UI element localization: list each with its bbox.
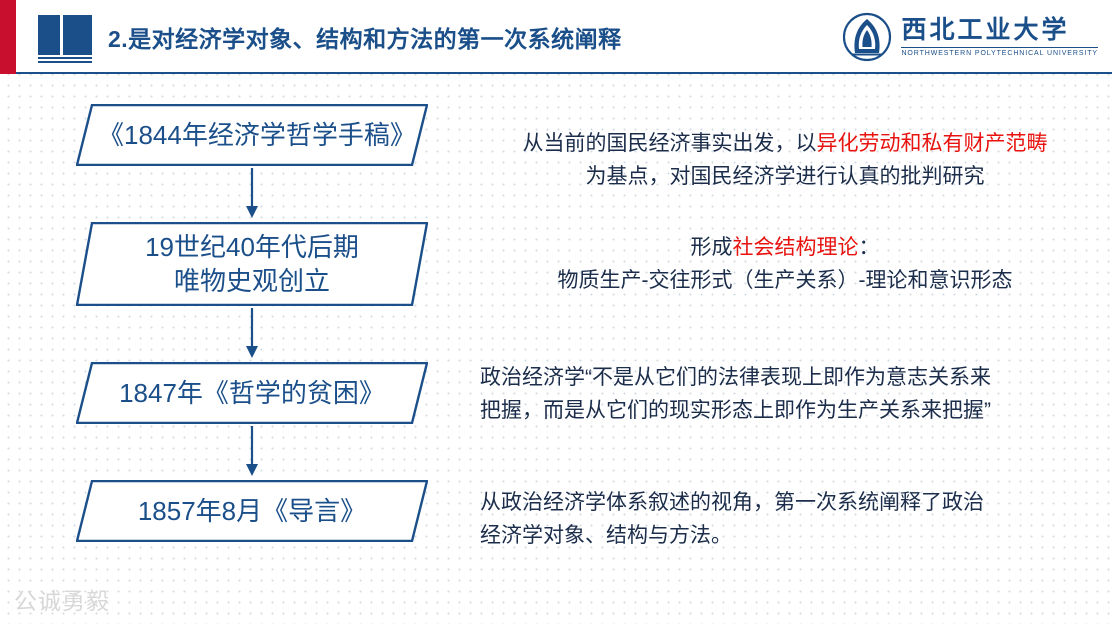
flow-node-2-label: 19世纪40年代后期 唯物史观创立 [145, 230, 359, 299]
note-block-3: 政治经济学“不是从它们的法律表现上即作为意志关系来 把握，而是从它们的现实形态上… [480, 362, 1090, 427]
flow-arrow-2 [76, 306, 428, 362]
note-3-seg-1: 政治经济学“不是从它们的法律表现上即作为意志关系来 [480, 366, 991, 389]
note-2-seg-1: 形成 [691, 236, 733, 259]
flow-diagram: 《1844年经济学哲学手稿》 19世纪40年代后期 唯物史观创立 [76, 104, 446, 542]
note-block-1: 从当前的国民经济事实出发，以异化劳动和私有财产范畴 为基点，对国民经济学进行认真… [480, 128, 1090, 193]
note-block-4: 从政治经济学体系叙述的视角，第一次系统阐释了政治 经济学对象、结构与方法。 [480, 487, 1090, 552]
flow-arrow-1 [76, 166, 428, 222]
note-block-2: 形成社会结构理论： 物质生产-交往形式（生产关系）-理论和意识形态 [480, 232, 1090, 297]
logo-text: 西北工业大学 NORTHWESTERN POLYTECHNICAL UNIVER… [901, 17, 1098, 56]
note-2-line-2: 物质生产-交往形式（生产关系）-理论和意识形态 [480, 265, 1090, 298]
note-2-line-1: 形成社会结构理论： [480, 232, 1090, 265]
university-logo: 西北工业大学 NORTHWESTERN POLYTECHNICAL UNIVER… [842, 9, 1098, 65]
note-1-seg-1: 从当前的国民经济事实出发，以 [523, 132, 817, 155]
flow-node-4: 1857年8月《导言》 [76, 480, 428, 542]
book-icon-line-2 [38, 61, 92, 63]
note-1-line-2: 为基点，对国民经济学进行认真的批判研究 [480, 161, 1090, 194]
note-2-seg-3: ： [859, 236, 880, 259]
book-icon-spine [60, 15, 63, 55]
flow-node-3-label: 1847年《哲学的贫困》 [119, 376, 385, 410]
note-4-line-2: 经济学对象、结构与方法。 [480, 520, 1090, 553]
book-icon [34, 13, 96, 63]
note-2-seg-4: 物质生产-交往形式（生产关系）-理论和意识形态 [558, 269, 1013, 292]
note-4-seg-2: 经济学对象、结构与方法。 [480, 524, 732, 547]
flow-node-4-label: 1857年8月《导言》 [138, 494, 366, 528]
note-1-seg-3: 为基点，对国民经济学进行认真的批判研究 [586, 165, 985, 188]
flow-node-3: 1847年《哲学的贫困》 [76, 362, 428, 424]
note-4-seg-1: 从政治经济学体系叙述的视角，第一次系统阐释了政治 [480, 491, 984, 514]
note-1-seg-2: 异化劳动和私有财产范畴 [817, 132, 1048, 155]
note-3-line-2: 把握，而是从它们的现实形态上即作为生产关系来把握” [480, 395, 1090, 428]
flow-node-2: 19世纪40年代后期 唯物史观创立 [76, 222, 428, 306]
note-2-seg-2: 社会结构理论 [733, 236, 859, 259]
logo-name-cn: 西北工业大学 [901, 17, 1098, 43]
flow-node-1: 《1844年经济学哲学手稿》 [76, 104, 428, 166]
page-title: 2.是对经济学对象、结构和方法的第一次系统阐释 [108, 20, 622, 54]
book-icon-line-1 [38, 57, 92, 59]
note-4-line-1: 从政治经济学体系叙述的视角，第一次系统阐释了政治 [480, 487, 1090, 520]
flow-arrow-3 [76, 424, 428, 480]
book-icon-cover [38, 15, 92, 55]
note-1-line-1: 从当前的国民经济事实出发，以异化劳动和私有财产范畴 [480, 128, 1090, 161]
logo-name-en: NORTHWESTERN POLYTECHNICAL UNIVERSITY [901, 47, 1098, 57]
watermark-text: 公诚勇毅 [14, 582, 110, 616]
logo-mark-icon [842, 12, 892, 62]
note-3-line-1: 政治经济学“不是从它们的法律表现上即作为意志关系来 [480, 362, 1090, 395]
note-3-seg-2: 把握，而是从它们的现实形态上即作为生产关系来把握” [480, 399, 991, 422]
flow-node-1-label: 《1844年经济学哲学手稿》 [98, 118, 406, 152]
slide-canvas: 2.是对经济学对象、结构和方法的第一次系统阐释 西北工业大学 NORTHWEST… [0, 0, 1112, 624]
header-accent-bar [0, 0, 16, 74]
slide-header: 2.是对经济学对象、结构和方法的第一次系统阐释 西北工业大学 NORTHWEST… [0, 0, 1112, 74]
